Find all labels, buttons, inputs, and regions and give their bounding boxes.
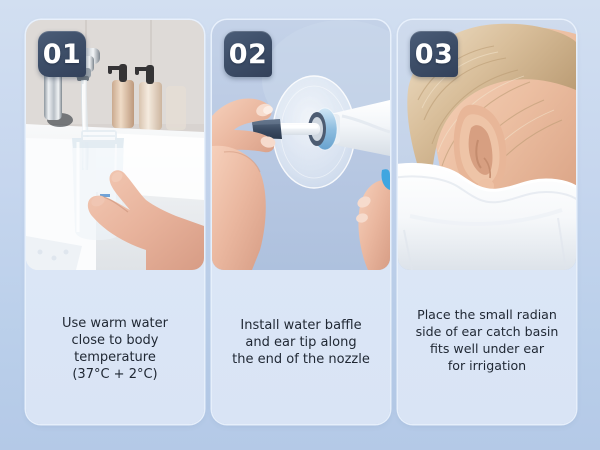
step-2-caption-line-1: Install water baffle	[219, 317, 383, 334]
step-card-3: 03 Place the small radian side of ear ca…	[398, 20, 576, 424]
step-2-number: 02	[229, 41, 268, 68]
step-3-badge: 03	[410, 31, 458, 77]
step-2-caption: Install water baffle and ear tip along t…	[219, 317, 383, 368]
step-3-caption-line-1: Place the small radian	[402, 306, 572, 323]
step-3-caption-line-4: for irrigation	[402, 357, 572, 374]
step-1-caption-line-3: temperature	[33, 349, 197, 366]
step-1-badge: 01	[38, 31, 86, 77]
step-1-caption: Use warm water close to body temperature…	[33, 315, 197, 383]
step-1-number: 01	[43, 41, 82, 68]
step-2-caption-line-2: and ear tip along	[219, 334, 383, 351]
step-3-caption-line-2: side of ear catch basin	[402, 323, 572, 340]
step-2-badge: 02	[224, 31, 272, 77]
step-1-caption-line-1: Use warm water	[33, 315, 197, 332]
step-1-caption-line-2: close to body	[33, 332, 197, 349]
step-2-caption-line-3: the end of the nozzle	[219, 351, 383, 368]
step-card-2: 02 Install water baffle and ear tip alon…	[212, 20, 390, 424]
step-1-caption-line-4: (37°C + 2°C)	[33, 366, 197, 383]
step-3-caption-line-3: fits well under ear	[402, 340, 572, 357]
step-3-number: 03	[415, 41, 454, 68]
step-3-caption: Place the small radian side of ear catch…	[402, 306, 572, 374]
step-card-1: 01 Use warm water close to body temperat…	[26, 20, 204, 424]
instruction-panel: 01 Use warm water close to body temperat…	[0, 0, 600, 450]
